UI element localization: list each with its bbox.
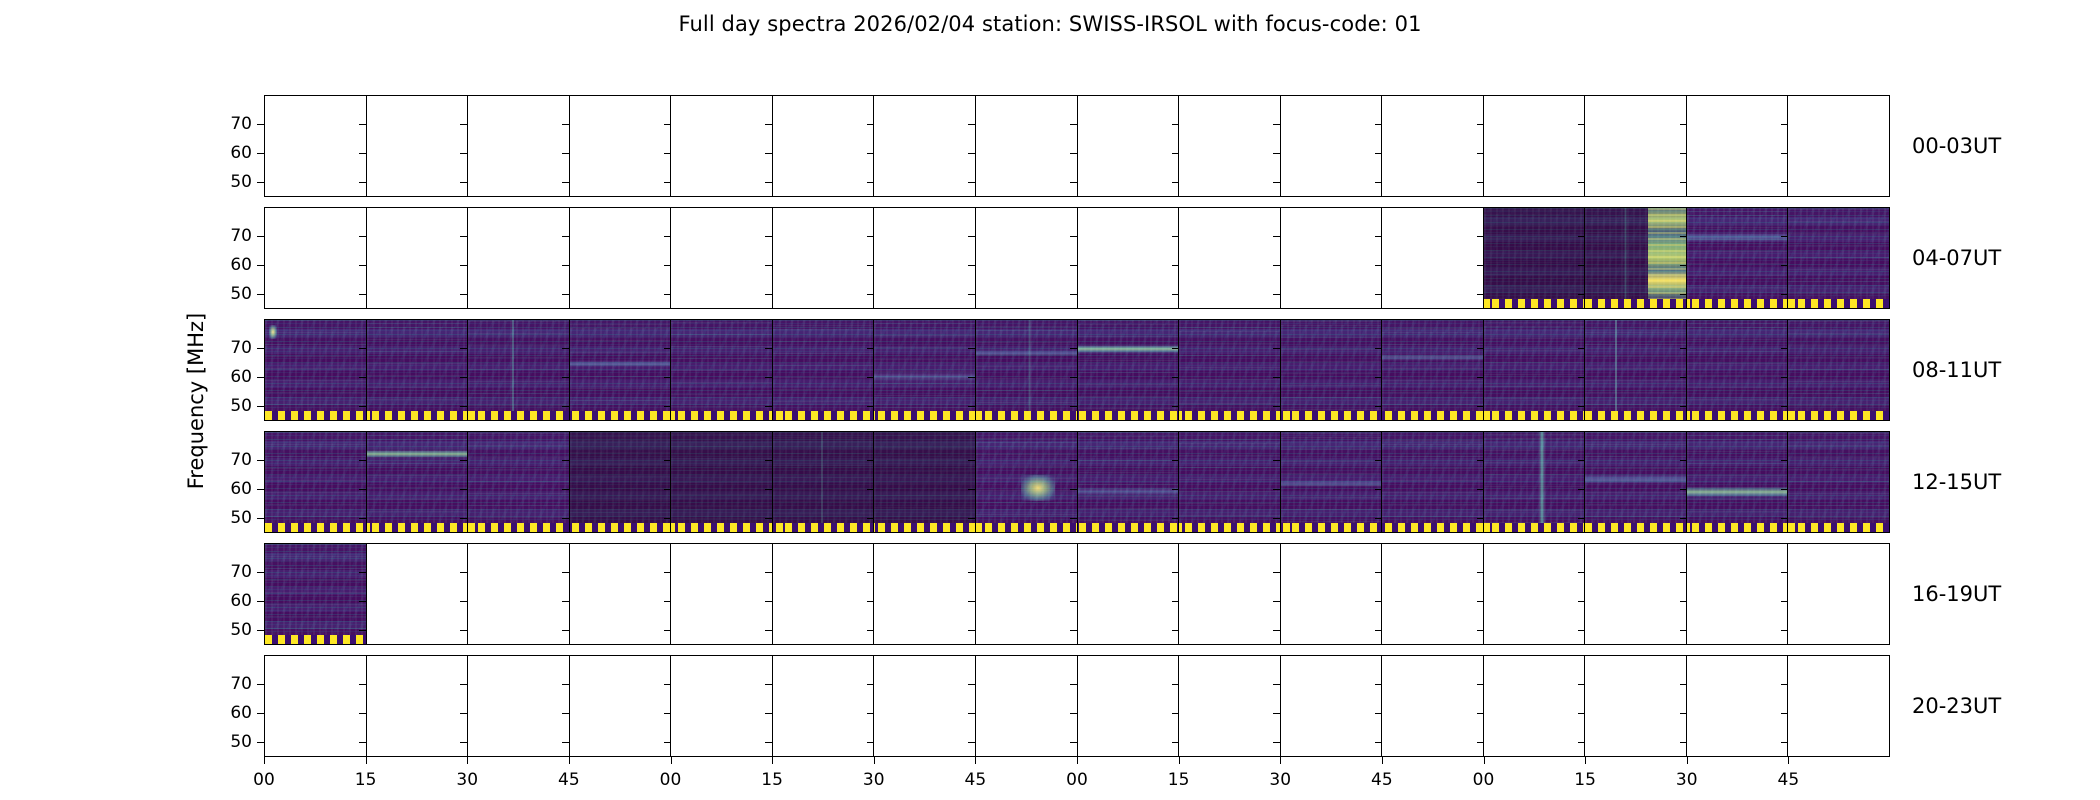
panel-tick bbox=[1781, 684, 1788, 685]
panel-tick bbox=[460, 377, 467, 378]
panel-tick bbox=[1172, 153, 1179, 154]
panel-tick bbox=[1578, 684, 1585, 685]
spectrogram-interference-pattern bbox=[570, 320, 671, 420]
panel-tick bbox=[765, 601, 772, 602]
spectrogram-panel-empty[interactable] bbox=[1078, 656, 1180, 756]
time-marker-strip bbox=[468, 523, 569, 532]
panel-tick bbox=[1477, 572, 1484, 573]
panel-tick bbox=[359, 742, 366, 743]
time-marker-strip bbox=[874, 523, 975, 532]
spectrogram-panel[interactable] bbox=[1484, 320, 1586, 420]
panel-tick bbox=[1578, 572, 1585, 573]
panel-tick bbox=[1070, 348, 1077, 349]
panel-tick bbox=[1680, 294, 1687, 295]
panel-tick bbox=[1477, 742, 1484, 743]
panel-tick bbox=[765, 742, 772, 743]
panel-tick bbox=[1781, 236, 1788, 237]
y-axis-tick bbox=[257, 601, 264, 602]
x-axis-tick bbox=[1484, 757, 1485, 764]
panel-tick bbox=[1273, 460, 1280, 461]
spectrogram-panel-empty[interactable] bbox=[570, 208, 672, 308]
spectrogram-panel-empty[interactable] bbox=[1382, 656, 1484, 756]
x-axis-tick bbox=[1382, 757, 1383, 764]
panel-tick bbox=[1781, 518, 1788, 519]
row-frame bbox=[264, 655, 1890, 757]
spectrogram-panel-empty[interactable] bbox=[773, 656, 875, 756]
spectrogram-image bbox=[1585, 432, 1686, 532]
spectrogram-panel-empty[interactable] bbox=[265, 96, 367, 196]
spectrogram-panel-empty[interactable] bbox=[874, 544, 976, 644]
panel-tick bbox=[1070, 713, 1077, 714]
panel-tick bbox=[1375, 236, 1382, 237]
x-axis-tick-label: 45 bbox=[1371, 770, 1393, 790]
panel-tick bbox=[1477, 518, 1484, 519]
spectrogram-image bbox=[976, 432, 1077, 532]
spectrogram-panel[interactable] bbox=[874, 320, 976, 420]
panel-tick bbox=[1781, 406, 1788, 407]
panel-tick bbox=[1477, 265, 1484, 266]
x-axis-tick bbox=[874, 757, 875, 764]
panel-tick bbox=[562, 294, 569, 295]
time-marker-strip bbox=[976, 523, 1077, 532]
spectrogram-panel[interactable] bbox=[468, 432, 570, 532]
panel-tick bbox=[1781, 348, 1788, 349]
x-axis-tick bbox=[772, 757, 773, 764]
spectrogram-panel-empty[interactable] bbox=[671, 656, 773, 756]
panel-tick bbox=[1070, 406, 1077, 407]
spectrogram-panel[interactable] bbox=[671, 432, 773, 532]
panel-tick bbox=[1273, 406, 1280, 407]
spectrogram-panel-empty[interactable] bbox=[570, 656, 672, 756]
spectrogram-panel-empty[interactable] bbox=[1585, 96, 1687, 196]
spectrogram-image bbox=[1484, 432, 1585, 532]
spectrogram-panel[interactable] bbox=[976, 432, 1078, 532]
spectrogram-panel-empty[interactable] bbox=[1484, 544, 1586, 644]
panel-tick bbox=[664, 518, 671, 519]
spectrogram-panel-empty[interactable] bbox=[265, 208, 367, 308]
panel-tick bbox=[1273, 601, 1280, 602]
panel-tick bbox=[1680, 713, 1687, 714]
spectrogram-interference-pattern bbox=[1484, 432, 1585, 532]
panel-tick bbox=[1477, 630, 1484, 631]
time-marker-strip bbox=[570, 411, 671, 420]
panel-tick bbox=[1070, 124, 1077, 125]
spectrogram-panel[interactable] bbox=[1484, 432, 1586, 532]
panel-tick bbox=[1680, 377, 1687, 378]
time-marker-strip bbox=[1585, 411, 1686, 420]
spectrogram-panel-empty[interactable] bbox=[1179, 544, 1281, 644]
spectrogram-panel[interactable] bbox=[1179, 432, 1281, 532]
spectrogram-interference-pattern bbox=[265, 432, 366, 532]
spectrogram-panel-empty[interactable] bbox=[1788, 96, 1889, 196]
spectrogram-panel-empty[interactable] bbox=[367, 96, 469, 196]
spectrogram-image bbox=[773, 432, 874, 532]
panel-tick bbox=[867, 460, 874, 461]
panel-tick bbox=[1781, 742, 1788, 743]
spectrogram-panel[interactable] bbox=[874, 432, 976, 532]
x-axis-tick-label: 15 bbox=[1574, 770, 1596, 790]
spectrogram-panel[interactable] bbox=[1281, 320, 1383, 420]
panel-tick bbox=[765, 406, 772, 407]
panel-tick bbox=[562, 518, 569, 519]
x-axis-tick-label: 30 bbox=[1269, 770, 1291, 790]
spectrogram-panel[interactable] bbox=[1382, 432, 1484, 532]
panel-tick bbox=[1375, 684, 1382, 685]
spectrogram-panel-empty[interactable] bbox=[671, 208, 773, 308]
panel-tick bbox=[765, 265, 772, 266]
panel-tick bbox=[359, 294, 366, 295]
panel-tick bbox=[1781, 572, 1788, 573]
time-marker-strip bbox=[570, 523, 671, 532]
panel-tick bbox=[1578, 518, 1585, 519]
spectrogram-panel-empty[interactable] bbox=[468, 656, 570, 756]
panel-tick bbox=[968, 572, 975, 573]
spectrogram-panel-empty[interactable] bbox=[468, 208, 570, 308]
spectrogram-panel-empty[interactable] bbox=[874, 208, 976, 308]
panel-tick bbox=[460, 236, 467, 237]
panel-tick bbox=[1477, 601, 1484, 602]
spectrogram-panel-empty[interactable] bbox=[976, 656, 1078, 756]
spectrogram-panel-empty[interactable] bbox=[1484, 656, 1586, 756]
panel-tick bbox=[562, 601, 569, 602]
time-marker-strip bbox=[1382, 411, 1483, 420]
spectrogram-panel-empty[interactable] bbox=[1687, 544, 1789, 644]
panel-tick bbox=[664, 460, 671, 461]
spectrogram-panel[interactable] bbox=[1687, 208, 1789, 308]
time-marker-strip bbox=[1179, 411, 1280, 420]
panel-tick bbox=[1477, 236, 1484, 237]
x-axis-tick bbox=[1687, 757, 1688, 764]
spectrogram-panel-empty[interactable] bbox=[1281, 544, 1383, 644]
panel-tick bbox=[765, 124, 772, 125]
spectrogram-panel-empty[interactable] bbox=[1281, 96, 1383, 196]
spectrogram-panel[interactable] bbox=[1078, 432, 1180, 532]
spectrogram-panel[interactable] bbox=[265, 320, 367, 420]
spectrogram-panel-empty[interactable] bbox=[468, 544, 570, 644]
panel-tick bbox=[562, 377, 569, 378]
spectrogram-panel[interactable] bbox=[265, 544, 367, 644]
spectrogram-interference-pattern bbox=[1484, 320, 1585, 420]
spectrogram-interference-pattern bbox=[671, 320, 772, 420]
panel-tick bbox=[1172, 713, 1179, 714]
panel-tick bbox=[1273, 153, 1280, 154]
panel-strip bbox=[265, 208, 1889, 308]
spectrogram-panel[interactable] bbox=[367, 320, 469, 420]
panel-tick bbox=[1578, 406, 1585, 407]
y-axis-tick bbox=[257, 630, 264, 631]
row-frame bbox=[264, 95, 1890, 197]
row-time-label: 20-23UT bbox=[1912, 694, 2001, 718]
row-time-label: 16-19UT bbox=[1912, 582, 2001, 606]
y-axis-tick bbox=[257, 236, 264, 237]
spectrogram-panel-empty[interactable] bbox=[976, 96, 1078, 196]
spectrogram-panel-empty[interactable] bbox=[1687, 656, 1789, 756]
spectrogram-row: 70605020-23UT bbox=[264, 655, 1890, 757]
panel-tick bbox=[1172, 406, 1179, 407]
spectrogram-panel-empty[interactable] bbox=[1382, 208, 1484, 308]
panel-tick bbox=[1172, 489, 1179, 490]
panel-tick bbox=[359, 153, 366, 154]
spectrogram-panel-empty[interactable] bbox=[367, 656, 469, 756]
spectrogram-panel-empty[interactable] bbox=[1179, 208, 1281, 308]
panel-tick bbox=[664, 153, 671, 154]
spectrogram-panel-empty[interactable] bbox=[468, 96, 570, 196]
spectrogram-interference-pattern bbox=[367, 432, 468, 532]
panel-tick bbox=[1578, 630, 1585, 631]
panel-tick bbox=[968, 377, 975, 378]
spectrogram-image bbox=[1484, 208, 1585, 308]
spectrogram-panel-empty[interactable] bbox=[265, 656, 367, 756]
rfi-spike bbox=[1539, 432, 1545, 532]
spectrogram-panel[interactable] bbox=[1788, 432, 1889, 532]
spectrogram-panel[interactable] bbox=[265, 432, 367, 532]
spectrogram-panel-empty[interactable] bbox=[976, 544, 1078, 644]
panel-tick bbox=[562, 124, 569, 125]
panel-tick bbox=[1172, 518, 1179, 519]
panel-tick bbox=[1781, 377, 1788, 378]
time-marker-strip bbox=[1687, 523, 1788, 532]
panel-tick bbox=[460, 518, 467, 519]
time-marker-strip bbox=[1078, 523, 1179, 532]
spectrogram-image bbox=[1382, 320, 1483, 420]
panel-tick bbox=[765, 460, 772, 461]
panel-tick bbox=[562, 153, 569, 154]
panel-tick bbox=[1680, 182, 1687, 183]
spectrogram-panel[interactable] bbox=[773, 320, 875, 420]
spectrogram-interference-pattern bbox=[1585, 320, 1686, 420]
spectrogram-panel-empty[interactable] bbox=[773, 208, 875, 308]
x-axis-tick-label: 15 bbox=[761, 770, 783, 790]
spectrogram-panel[interactable] bbox=[1078, 320, 1180, 420]
panel-tick bbox=[1172, 684, 1179, 685]
y-axis-tick-label: 70 bbox=[230, 562, 252, 582]
spectrogram-panel-empty[interactable] bbox=[1281, 208, 1383, 308]
spectrogram-panel-empty[interactable] bbox=[671, 544, 773, 644]
spectrogram-panel-empty[interactable] bbox=[1687, 96, 1789, 196]
y-axis-tick-label: 60 bbox=[230, 367, 252, 387]
emission-band bbox=[874, 372, 975, 381]
spectrogram-panel[interactable] bbox=[1585, 432, 1687, 532]
spectrogram-panel[interactable] bbox=[773, 432, 875, 532]
y-axis-tick bbox=[257, 124, 264, 125]
spectrogram-panel-empty[interactable] bbox=[570, 96, 672, 196]
panel-tick bbox=[460, 684, 467, 685]
panel-tick bbox=[1375, 377, 1382, 378]
panel-tick bbox=[664, 265, 671, 266]
spectrogram-panel[interactable] bbox=[1788, 208, 1889, 308]
spectrogram-row: 70605012-15UT bbox=[264, 431, 1890, 533]
y-axis-label-text: Frequency [MHz] bbox=[182, 95, 210, 707]
panel-tick bbox=[1578, 236, 1585, 237]
spectrogram-panel-empty[interactable] bbox=[1484, 96, 1586, 196]
time-marker-strip bbox=[773, 411, 874, 420]
spectrogram-panel[interactable] bbox=[468, 320, 570, 420]
panel-tick bbox=[1273, 182, 1280, 183]
panel-tick bbox=[1172, 236, 1179, 237]
spectrogram-panel[interactable] bbox=[671, 320, 773, 420]
spectrogram-interference-pattern bbox=[1788, 432, 1889, 532]
panel-tick bbox=[1781, 182, 1788, 183]
spectrogram-interference-pattern bbox=[1788, 320, 1889, 420]
panel-tick bbox=[1477, 153, 1484, 154]
panel-tick bbox=[968, 601, 975, 602]
spectrogram-panel[interactable] bbox=[1382, 320, 1484, 420]
spectrogram-panel[interactable] bbox=[976, 320, 1078, 420]
spectrogram-panel-empty[interactable] bbox=[773, 96, 875, 196]
spectrogram-panel-empty[interactable] bbox=[1078, 544, 1180, 644]
panel-tick bbox=[359, 377, 366, 378]
panel-tick bbox=[1273, 265, 1280, 266]
x-axis-tick-label: 15 bbox=[355, 770, 377, 790]
panel-tick bbox=[562, 236, 569, 237]
time-marker-strip bbox=[367, 523, 468, 532]
panel-tick bbox=[359, 265, 366, 266]
panel-strip bbox=[265, 320, 1889, 420]
spectrogram-panel[interactable] bbox=[1585, 208, 1687, 308]
panel-tick bbox=[1781, 601, 1788, 602]
spectrogram-panel[interactable] bbox=[1179, 320, 1281, 420]
spectrogram-interference-pattern bbox=[1687, 208, 1788, 308]
panel-tick bbox=[1477, 377, 1484, 378]
panel-tick bbox=[1680, 630, 1687, 631]
spectrogram-interference-pattern bbox=[265, 320, 366, 420]
emission-band bbox=[1078, 487, 1179, 495]
panel-tick bbox=[968, 630, 975, 631]
spectrogram-panel-empty[interactable] bbox=[1382, 96, 1484, 196]
spectrogram-image bbox=[1281, 432, 1382, 532]
spectrogram-image bbox=[1687, 320, 1788, 420]
panel-tick bbox=[664, 601, 671, 602]
spectrogram-image bbox=[570, 432, 671, 532]
time-marker-strip bbox=[1382, 523, 1483, 532]
x-axis-tick bbox=[366, 757, 367, 764]
spectrogram-image bbox=[874, 320, 975, 420]
panel-tick bbox=[1273, 572, 1280, 573]
spectrogram-panel-empty[interactable] bbox=[1382, 544, 1484, 644]
spectrogram-panel-empty[interactable] bbox=[671, 96, 773, 196]
panel-tick bbox=[968, 489, 975, 490]
row-time-label: 12-15UT bbox=[1912, 470, 2001, 494]
panel-tick bbox=[1375, 572, 1382, 573]
panel-tick bbox=[1680, 601, 1687, 602]
y-axis-tick-label: 60 bbox=[230, 143, 252, 163]
panel-tick bbox=[1477, 713, 1484, 714]
panel-tick bbox=[1781, 489, 1788, 490]
panel-tick bbox=[664, 630, 671, 631]
panel-tick bbox=[562, 489, 569, 490]
spectrogram-panel-empty[interactable] bbox=[976, 208, 1078, 308]
y-axis-tick-label: 70 bbox=[230, 338, 252, 358]
panel-tick bbox=[1680, 684, 1687, 685]
panel-tick bbox=[1070, 489, 1077, 490]
spectrogram-panel[interactable] bbox=[1687, 320, 1789, 420]
spectrogram-panel-empty[interactable] bbox=[874, 656, 976, 756]
x-axis-tick bbox=[671, 757, 672, 764]
spectrogram-panel[interactable] bbox=[367, 432, 469, 532]
panel-tick bbox=[867, 742, 874, 743]
panel-tick bbox=[1375, 153, 1382, 154]
spectrogram-panel-empty[interactable] bbox=[1078, 208, 1180, 308]
panel-strip bbox=[265, 432, 1889, 532]
spectrogram-interference-pattern bbox=[1484, 208, 1585, 308]
time-marker-strip bbox=[1281, 523, 1382, 532]
panel-tick bbox=[1477, 684, 1484, 685]
spectrogram-panel-empty[interactable] bbox=[367, 208, 469, 308]
panel-tick bbox=[867, 236, 874, 237]
spectrogram-panel-empty[interactable] bbox=[1179, 656, 1281, 756]
spectrogram-panel[interactable] bbox=[1788, 320, 1889, 420]
panel-tick bbox=[1781, 265, 1788, 266]
panel-tick bbox=[1680, 348, 1687, 349]
panel-tick bbox=[562, 265, 569, 266]
panel-tick bbox=[1172, 377, 1179, 378]
spectrogram-panel-empty[interactable] bbox=[773, 544, 875, 644]
panel-tick bbox=[664, 377, 671, 378]
spectrogram-panel[interactable] bbox=[1687, 432, 1789, 532]
panel-tick bbox=[562, 406, 569, 407]
panel-tick bbox=[1781, 124, 1788, 125]
panel-tick bbox=[460, 460, 467, 461]
panel-tick bbox=[1375, 489, 1382, 490]
spectrogram-panel[interactable] bbox=[1484, 208, 1586, 308]
spectrogram-panel-empty[interactable] bbox=[1179, 96, 1281, 196]
panel-tick bbox=[1070, 601, 1077, 602]
spectrogram-panel-empty[interactable] bbox=[1585, 656, 1687, 756]
spectrogram-interference-pattern bbox=[570, 432, 671, 532]
panel-tick bbox=[1578, 489, 1585, 490]
panel-tick bbox=[562, 742, 569, 743]
y-axis-tick-label: 70 bbox=[230, 450, 252, 470]
y-axis-tick-label: 60 bbox=[230, 479, 252, 499]
spectrogram-interference-pattern bbox=[1281, 320, 1382, 420]
panel-tick bbox=[1172, 182, 1179, 183]
panel-tick bbox=[460, 713, 467, 714]
spectrogram-panel-empty[interactable] bbox=[1788, 544, 1889, 644]
panel-tick bbox=[1680, 236, 1687, 237]
spectrogram-panel[interactable] bbox=[1585, 320, 1687, 420]
panel-tick bbox=[1070, 518, 1077, 519]
spectrogram-panel-empty[interactable] bbox=[367, 544, 469, 644]
spectrogram-panel[interactable] bbox=[570, 432, 672, 532]
panel-tick bbox=[664, 182, 671, 183]
spectrogram-panel-empty[interactable] bbox=[874, 96, 976, 196]
panel-tick bbox=[1375, 630, 1382, 631]
spectrogram-interference-pattern bbox=[1382, 320, 1483, 420]
spectrogram-image bbox=[1687, 208, 1788, 308]
spectrogram-panel-empty[interactable] bbox=[570, 544, 672, 644]
panel-tick bbox=[867, 406, 874, 407]
spectrogram-interference-pattern bbox=[265, 544, 366, 644]
panel-tick bbox=[968, 236, 975, 237]
spectrogram-panel-empty[interactable] bbox=[1078, 96, 1180, 196]
panel-tick bbox=[562, 348, 569, 349]
y-axis-tick bbox=[257, 742, 264, 743]
y-axis-tick-label: 50 bbox=[230, 732, 252, 752]
panel-tick bbox=[1477, 348, 1484, 349]
panel-tick bbox=[765, 294, 772, 295]
spectrogram-panel-empty[interactable] bbox=[1281, 656, 1383, 756]
spectrogram-panel-empty[interactable] bbox=[1788, 656, 1889, 756]
spectrogram-panel[interactable] bbox=[1281, 432, 1383, 532]
spectrogram-image bbox=[1788, 320, 1889, 420]
spectrogram-panel-empty[interactable] bbox=[1585, 544, 1687, 644]
panel-tick bbox=[664, 294, 671, 295]
panel-tick bbox=[1680, 265, 1687, 266]
panel-tick bbox=[765, 348, 772, 349]
panel-tick bbox=[1070, 153, 1077, 154]
x-axis-tick bbox=[1179, 757, 1180, 764]
spectrogram-panel[interactable] bbox=[570, 320, 672, 420]
